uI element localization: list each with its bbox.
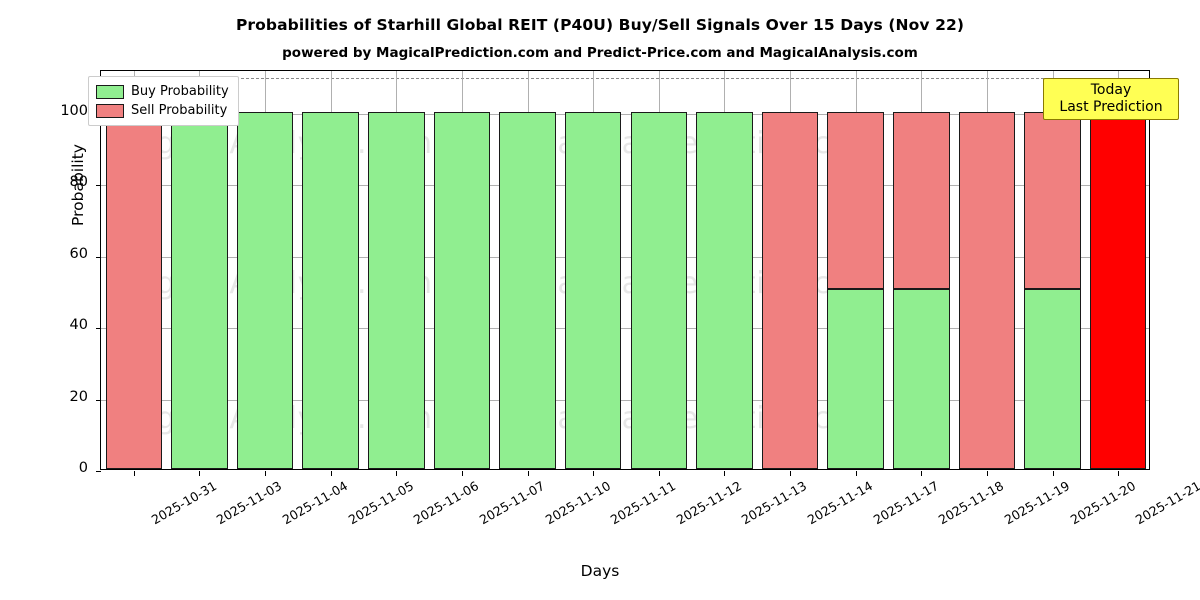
x-tick-label: 2025-11-20 bbox=[1067, 478, 1137, 527]
y-tick-mark bbox=[96, 257, 101, 258]
x-tick-mark bbox=[1053, 471, 1054, 476]
bar-2025-11-19[interactable] bbox=[959, 69, 1015, 469]
bar-2025-11-07[interactable] bbox=[434, 69, 490, 469]
x-tick-mark bbox=[659, 471, 660, 476]
x-tick-mark bbox=[724, 471, 725, 476]
x-tick-mark bbox=[199, 471, 200, 476]
chart-title: Probabilities of Starhill Global REIT (P… bbox=[0, 16, 1200, 34]
bar-segment-sell bbox=[893, 112, 949, 289]
y-tick-label: 80 bbox=[18, 174, 88, 190]
legend-item-sell[interactable]: Sell Probability bbox=[96, 101, 229, 120]
bar-2025-11-04[interactable] bbox=[237, 69, 293, 469]
bar-2025-11-18[interactable] bbox=[893, 69, 949, 469]
x-tick-label: 2025-11-13 bbox=[739, 478, 809, 527]
bar-segment-sell bbox=[762, 112, 818, 469]
legend-label: Buy Probability bbox=[131, 84, 229, 99]
bar-2025-11-06[interactable] bbox=[368, 69, 424, 469]
bar-2025-11-12[interactable] bbox=[631, 69, 687, 469]
bar-2025-11-14[interactable] bbox=[762, 69, 818, 469]
legend-label: Sell Probability bbox=[131, 103, 227, 118]
y-tick-label: 40 bbox=[18, 317, 88, 333]
chart-legend: Buy ProbabilitySell Probability bbox=[88, 76, 239, 126]
bar-segment-buy bbox=[631, 112, 687, 469]
bar-2025-11-20[interactable] bbox=[1024, 69, 1080, 469]
last-prediction-label: Last Prediction bbox=[1044, 99, 1178, 116]
legend-swatch bbox=[96, 85, 124, 99]
bar-2025-11-10[interactable] bbox=[499, 69, 555, 469]
x-axis-label: Days bbox=[0, 562, 1200, 580]
bar-2025-11-11[interactable] bbox=[565, 69, 621, 469]
x-tick-mark bbox=[1118, 471, 1119, 476]
bar-segment-buy bbox=[499, 112, 555, 469]
x-tick-label: 2025-11-10 bbox=[542, 478, 612, 527]
x-tick-label: 2025-11-06 bbox=[411, 478, 481, 527]
x-tick-label: 2025-11-19 bbox=[1002, 478, 1072, 527]
x-tick-mark bbox=[987, 471, 988, 476]
bar-2025-11-05[interactable] bbox=[302, 69, 358, 469]
y-tick-mark bbox=[96, 471, 101, 472]
y-tick-mark bbox=[96, 400, 101, 401]
x-tick-mark bbox=[265, 471, 266, 476]
bar-2025-11-17[interactable] bbox=[827, 69, 883, 469]
x-tick-label: 2025-11-05 bbox=[345, 478, 415, 527]
y-tick-label: 0 bbox=[18, 460, 88, 476]
x-tick-mark bbox=[396, 471, 397, 476]
x-tick-mark bbox=[462, 471, 463, 476]
x-tick-label: 2025-11-04 bbox=[280, 478, 350, 527]
x-tick-label: 2025-10-31 bbox=[149, 478, 219, 527]
x-tick-label: 2025-11-12 bbox=[674, 478, 744, 527]
bar-segment-buy bbox=[434, 112, 490, 469]
chart-figure: Probabilities of Starhill Global REIT (P… bbox=[0, 0, 1200, 600]
y-tick-mark bbox=[96, 328, 101, 329]
x-tick-mark bbox=[593, 471, 594, 476]
bar-segment-buy bbox=[893, 289, 949, 469]
bar-segment-sell bbox=[959, 112, 1015, 469]
y-tick-mark bbox=[96, 185, 101, 186]
bar-segment-buy bbox=[368, 112, 424, 469]
today-annotation: Today Last Prediction bbox=[1043, 78, 1179, 120]
bar-segment-buy bbox=[302, 112, 358, 469]
y-tick-label: 100 bbox=[18, 103, 88, 119]
chart-subtitle: powered by MagicalPrediction.com and Pre… bbox=[0, 45, 1200, 61]
bar-segment-buy bbox=[565, 112, 621, 469]
y-tick-label: 20 bbox=[18, 389, 88, 405]
x-tick-mark bbox=[331, 471, 332, 476]
x-tick-label: 2025-11-21 bbox=[1133, 478, 1200, 527]
bar-2025-11-13[interactable] bbox=[696, 69, 752, 469]
bar-segment-buy bbox=[827, 289, 883, 469]
y-tick-label: 60 bbox=[18, 246, 88, 262]
bar-series-layer bbox=[101, 71, 1149, 469]
bar-2025-10-31[interactable] bbox=[106, 69, 162, 469]
legend-swatch bbox=[96, 104, 124, 118]
bar-segment-buy bbox=[696, 112, 752, 469]
bar-segment-buy bbox=[171, 112, 227, 469]
bar-segment-sell bbox=[106, 112, 162, 469]
x-tick-label: 2025-11-14 bbox=[805, 478, 875, 527]
bar-segment-today bbox=[1090, 112, 1146, 469]
x-tick-label: 2025-11-18 bbox=[936, 478, 1006, 527]
x-tick-mark bbox=[921, 471, 922, 476]
x-tick-mark bbox=[134, 471, 135, 476]
bar-segment-buy bbox=[1024, 289, 1080, 469]
bar-segment-sell bbox=[827, 112, 883, 289]
bar-2025-11-03[interactable] bbox=[171, 69, 227, 469]
x-tick-label: 2025-11-11 bbox=[608, 478, 678, 527]
bar-2025-11-21[interactable] bbox=[1090, 69, 1146, 469]
x-tick-label: 2025-11-07 bbox=[477, 478, 547, 527]
bar-segment-buy bbox=[237, 112, 293, 469]
legend-item-buy[interactable]: Buy Probability bbox=[96, 82, 229, 101]
x-tick-label: 2025-11-17 bbox=[870, 478, 940, 527]
x-tick-mark bbox=[856, 471, 857, 476]
x-tick-mark bbox=[790, 471, 791, 476]
x-tick-mark bbox=[528, 471, 529, 476]
bar-segment-sell bbox=[1024, 112, 1080, 289]
plot-area: MagicalAnalysis.comMagicalPrediction.com… bbox=[100, 70, 1150, 470]
x-tick-label: 2025-11-03 bbox=[214, 478, 284, 527]
today-label: Today bbox=[1044, 82, 1178, 99]
